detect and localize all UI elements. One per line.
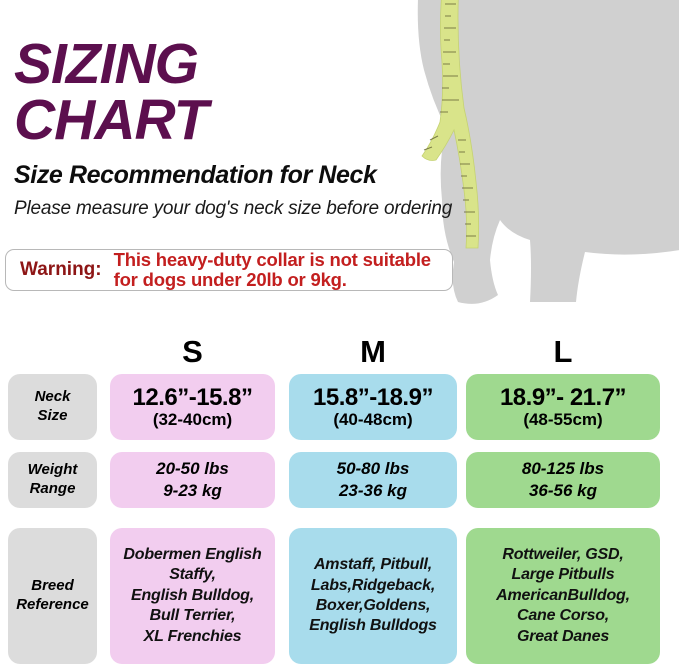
breed-line: Labs,Ridgeback, [311, 576, 435, 596]
warning-label: Warning: [12, 259, 114, 281]
row-label-neck-size: Neck Size [8, 374, 97, 440]
breed-reference-large-cell: Rottweiler, GSD, Large Pitbulls American… [466, 528, 660, 664]
weight-range-large-lbs: 80-125 lbs [522, 458, 604, 480]
weight-range-small-kg: 9-23 kg [163, 480, 222, 502]
breed-reference-small-cell: Dobermen English Staffy, English Bulldog… [110, 528, 275, 664]
header-block: SIZING CHART Size Recommendation for Nec… [14, 38, 484, 220]
breed-line: Amstaff, Pitbull, [314, 555, 432, 575]
row-label-neck-size-line-1: Neck [35, 388, 71, 407]
breed-line: Boxer,Goldens, [316, 596, 431, 616]
breed-line: Rottweiler, GSD, [502, 545, 623, 565]
row-label-neck-size-line-2: Size [37, 407, 67, 426]
breed-line: Staffy, [169, 565, 216, 585]
row-label-weight-range-line-1: Weight [28, 461, 78, 480]
weight-range-medium-kg: 23-36 kg [339, 480, 407, 502]
neck-size-medium-cm: (40-48cm) [333, 411, 412, 430]
breed-line: Cane Corso, [517, 606, 609, 626]
breed-line: AmericanBulldog, [496, 586, 630, 606]
row-label-weight-range: Weight Range [8, 452, 97, 508]
size-header-large: L [466, 334, 660, 370]
size-header-medium: M [289, 334, 457, 370]
warning-message-line-2: for dogs under 20lb or 9kg. [114, 270, 431, 290]
neck-size-large-cell: 18.9”- 21.7” (48-55cm) [466, 374, 660, 440]
neck-size-small-cm: (32-40cm) [153, 411, 232, 430]
neck-size-large-cm: (48-55cm) [523, 411, 602, 430]
breed-line: English Bulldogs [309, 616, 436, 636]
measure-instruction: Please measure your dog's neck size befo… [14, 198, 484, 220]
weight-range-medium-cell: 50-80 lbs 23-36 kg [289, 452, 457, 508]
page-title-line-1: SIZING [14, 38, 484, 92]
row-label-breed-reference-line-1: Breed [31, 577, 74, 596]
weight-range-large-cell: 80-125 lbs 36-56 kg [466, 452, 660, 508]
neck-size-large-inches: 18.9”- 21.7” [500, 385, 626, 410]
warning-message-line-1: This heavy-duty collar is not suitable [114, 250, 431, 270]
row-label-weight-range-line-2: Range [30, 480, 76, 499]
warning-message: This heavy-duty collar is not suitable f… [114, 250, 431, 289]
breed-line: Bull Terrier, [150, 606, 236, 626]
neck-size-small-inches: 12.6”-15.8” [133, 385, 253, 410]
weight-range-small-cell: 20-50 lbs 9-23 kg [110, 452, 275, 508]
warning-box: Warning: This heavy-duty collar is not s… [5, 249, 453, 291]
row-label-breed-reference-line-2: Reference [16, 596, 89, 615]
weight-range-small-lbs: 20-50 lbs [156, 458, 229, 480]
weight-range-large-kg: 36-56 kg [529, 480, 597, 502]
neck-size-medium-cell: 15.8”-18.9” (40-48cm) [289, 374, 457, 440]
row-label-breed-reference: Breed Reference [8, 528, 97, 664]
breed-line: Dobermen English [123, 545, 261, 565]
breed-line: Great Danes [517, 627, 609, 647]
breed-line: Large Pitbulls [512, 565, 615, 585]
weight-range-medium-lbs: 50-80 lbs [337, 458, 410, 480]
size-header-small: S [110, 334, 275, 370]
page-title-line-2: CHART [14, 94, 484, 148]
neck-size-small-cell: 12.6”-15.8” (32-40cm) [110, 374, 275, 440]
page-subtitle: Size Recommendation for Neck [14, 161, 484, 190]
neck-size-medium-inches: 15.8”-18.9” [313, 385, 433, 410]
breed-line: XL Frenchies [144, 627, 242, 647]
breed-line: English Bulldog, [131, 586, 254, 606]
breed-reference-medium-cell: Amstaff, Pitbull, Labs,Ridgeback, Boxer,… [289, 528, 457, 664]
